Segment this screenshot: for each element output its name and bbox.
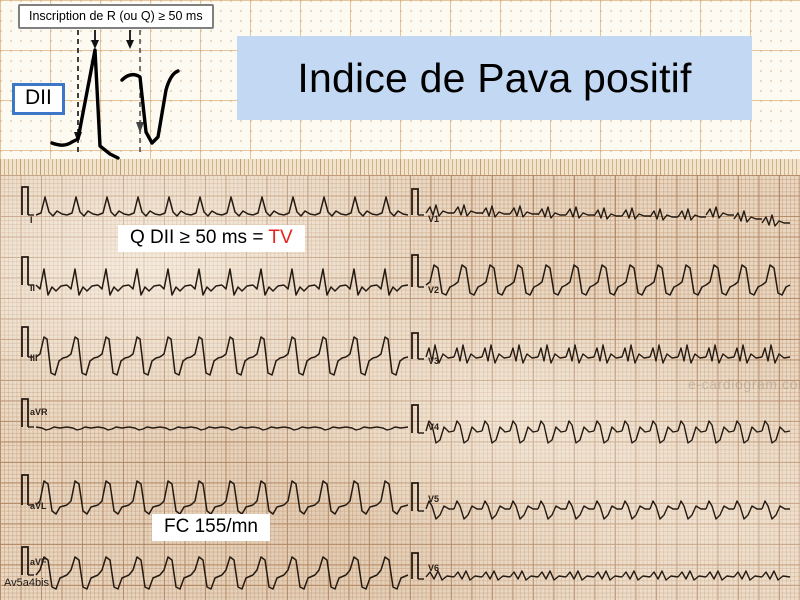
lead-caption-V2: V2 xyxy=(428,285,439,295)
film-identifier: Av5a4bis xyxy=(4,577,49,589)
lead-caption-III: III xyxy=(30,353,38,363)
lead-caption-I: I xyxy=(30,215,33,225)
lead-label-dii: DII xyxy=(12,83,65,115)
calibration-pulse xyxy=(22,399,28,427)
ecg-strip-lead-V6: V6 xyxy=(412,553,790,580)
slide-canvas: Inscription de R (ou Q) ≥ 50 ms DII Indi… xyxy=(0,0,800,600)
lead-caption-V1: V1 xyxy=(428,214,439,224)
annotation-tv-highlight: TV xyxy=(268,227,292,248)
arrow-marker-q-onset xyxy=(126,30,134,49)
ecg-strip-lead-III: III xyxy=(22,327,408,375)
lead-caption-V4: V4 xyxy=(428,422,439,432)
waveform-deep-q xyxy=(122,71,178,143)
ecg-strip-lead-V5: V5 xyxy=(412,483,790,519)
ecg-strip-lead-II: II xyxy=(22,257,408,295)
callout-inscription-criterion: Inscription de R (ou Q) ≥ 50 ms xyxy=(18,4,214,29)
calibration-pulse xyxy=(22,547,28,575)
calibration-pulse xyxy=(412,189,418,215)
lead-caption-aVR: aVR xyxy=(30,407,48,417)
calibration-pulse xyxy=(412,333,418,359)
arrow-marker-r-peak xyxy=(91,30,99,49)
lead-caption-V6: V6 xyxy=(428,563,439,573)
annotation-q-criterion: Q DII ≥ 50 ms = TV xyxy=(118,225,305,252)
calibration-pulse xyxy=(22,475,28,505)
ecg-strip-lead-V2: V2 xyxy=(412,255,790,295)
page-title: Indice de Pava positif xyxy=(297,55,691,102)
lead-caption-aVF: aVF xyxy=(30,557,47,567)
ecg-strip-lead-aVR: aVR xyxy=(22,399,408,430)
ecg-strip-lead-I: I xyxy=(22,187,408,225)
calibration-pulse xyxy=(22,187,28,215)
arrow-marker-q-bottom xyxy=(136,122,144,133)
lead-caption-V5: V5 xyxy=(428,494,439,504)
ecg-strip-lead-V4: V4 xyxy=(412,405,790,443)
lead-caption-II: II xyxy=(30,283,35,293)
annotation-q-criterion-text: Q DII ≥ 50 ms = xyxy=(130,227,268,248)
calibration-pulse xyxy=(412,405,418,433)
calibration-pulse xyxy=(412,483,418,511)
ecg-strip-lead-aVL: aVL xyxy=(22,475,408,514)
lead-caption-V3: V3 xyxy=(428,356,439,366)
calibration-pulse xyxy=(412,553,418,579)
calibration-pulse xyxy=(22,327,28,357)
calibration-pulse xyxy=(412,255,418,287)
ecg-strip-lead-V1: V1 xyxy=(412,189,790,226)
calibration-pulse xyxy=(22,257,28,285)
ecg-strip-lead-aVF: aVF xyxy=(22,547,408,589)
watermark-text: e-cardiogram.com xyxy=(688,376,800,392)
annotation-heart-rate: FC 155/mn xyxy=(152,514,270,541)
title-banner: Indice de Pava positif xyxy=(237,36,752,120)
lead-caption-aVL: aVL xyxy=(30,501,47,511)
ecg-strip-lead-V3: V3 xyxy=(412,333,790,366)
